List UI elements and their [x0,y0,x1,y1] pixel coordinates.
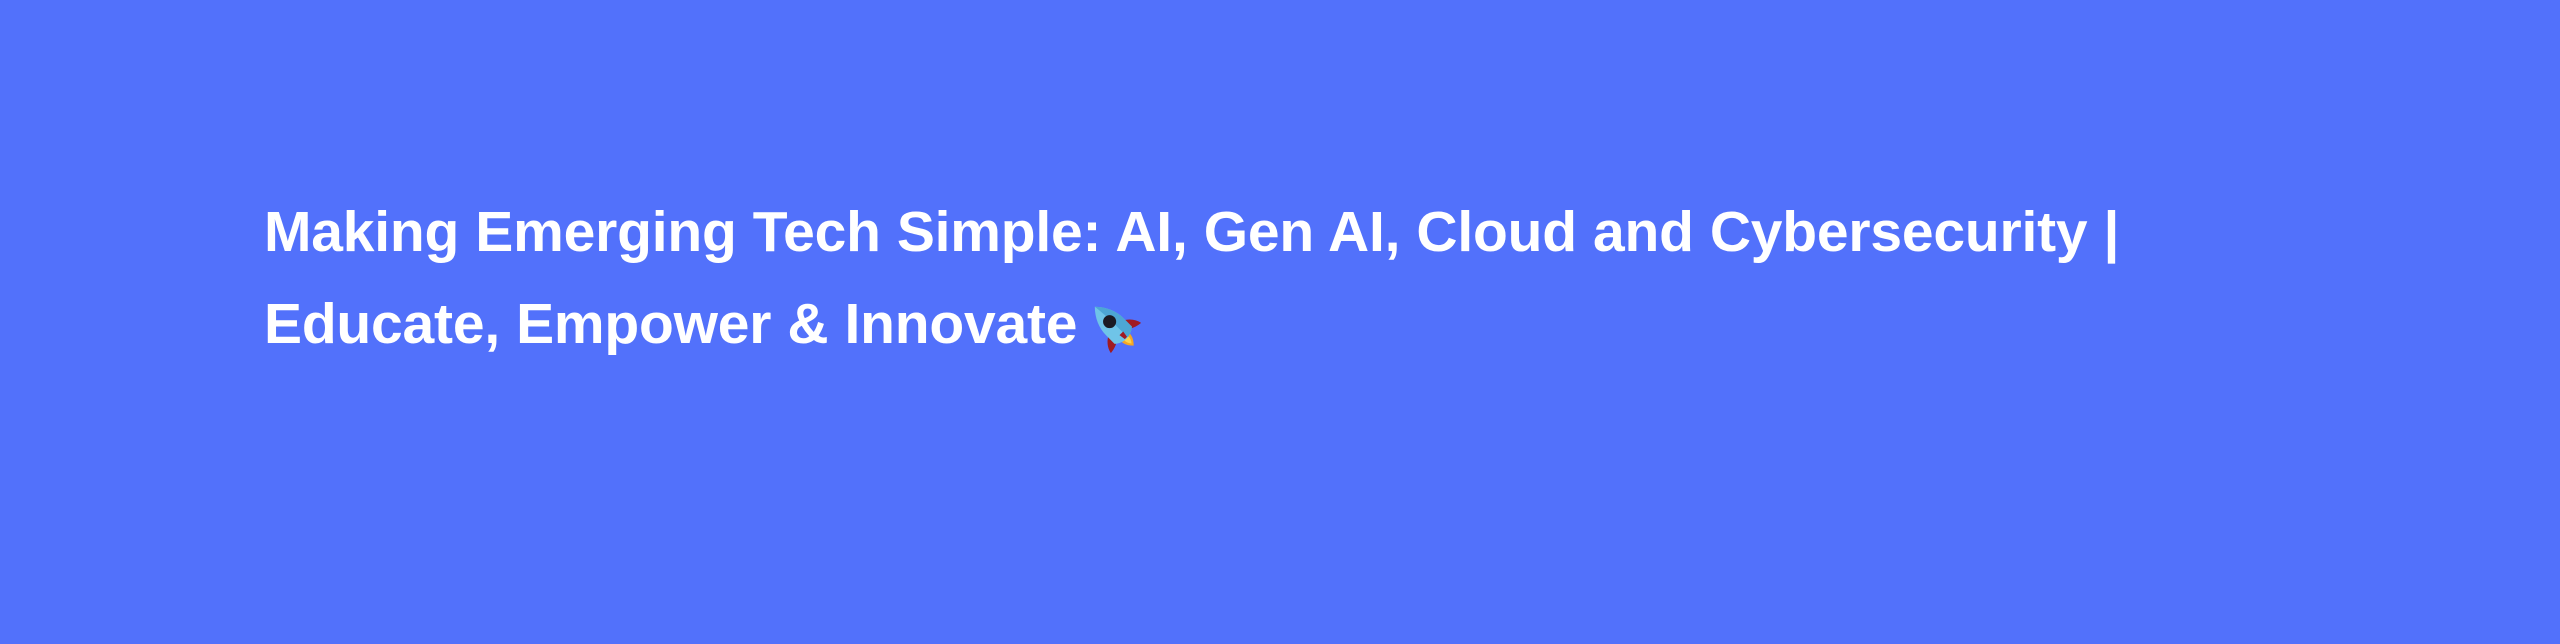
page-title: Making Emerging Tech Simple: AI, Gen AI,… [264,186,2444,370]
headline-line-2: Educate, Empower & Innovate [264,292,1077,356]
headline-line-2-wrap: Educate, Empower & Innovate [264,278,2444,370]
rocket-emoji [1086,298,1142,354]
headline-block: Making Emerging Tech Simple: AI, Gen AI,… [264,186,2444,370]
headline-line-1: Making Emerging Tech Simple: AI, Gen AI,… [264,186,2444,278]
banner-hero: Making Emerging Tech Simple: AI, Gen AI,… [0,0,2560,644]
